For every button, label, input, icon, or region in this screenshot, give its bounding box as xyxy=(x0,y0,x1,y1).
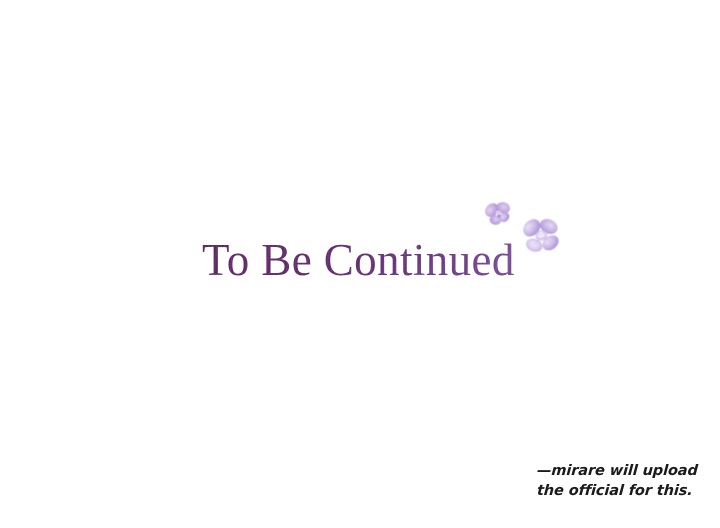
page-canvas: To Be Continued xyxy=(0,0,720,528)
uploader-note-line-1: —mirare will upload xyxy=(536,461,698,481)
page-title: To Be Continued xyxy=(202,232,532,288)
butterfly-icon-small xyxy=(482,197,516,231)
uploader-note-line-2: the official for this. xyxy=(536,481,698,501)
uploader-note: —mirare will upload the official for thi… xyxy=(537,461,698,501)
butterfly-icon-large xyxy=(518,211,566,261)
to-be-continued-title: To Be Continued xyxy=(202,232,532,288)
